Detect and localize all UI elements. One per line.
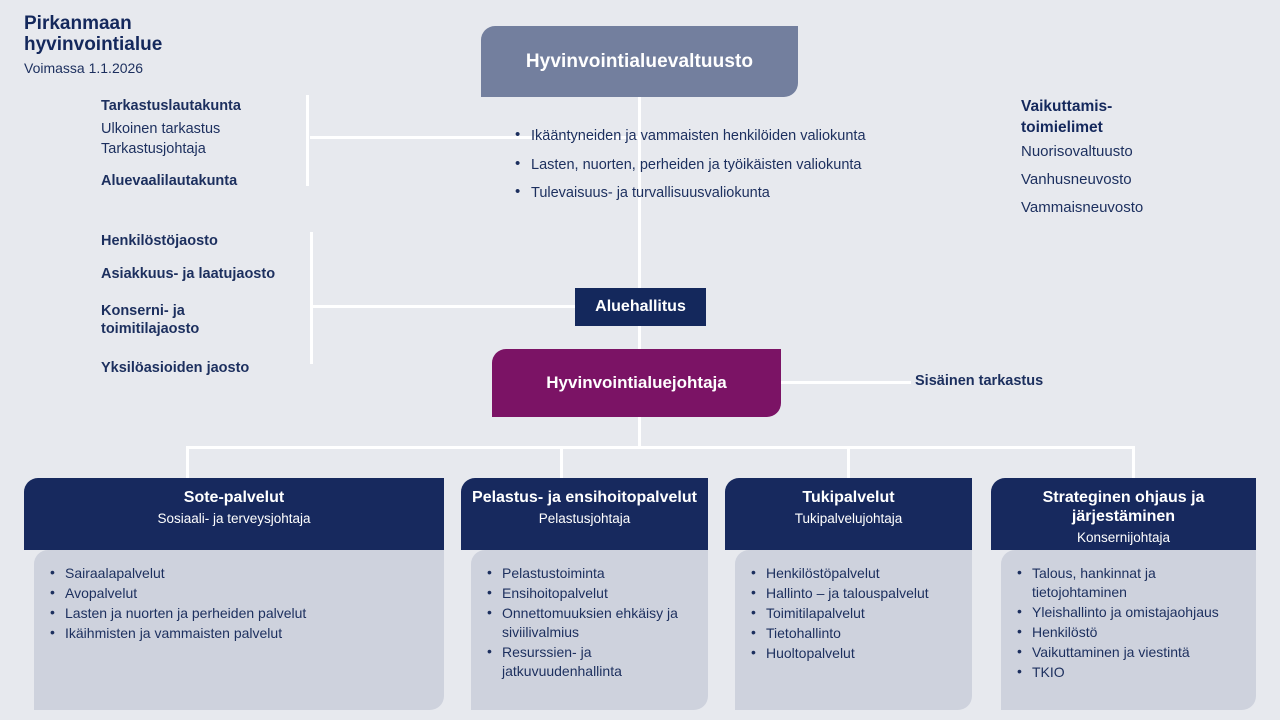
section-label: Konserni- ja toimitilajaosto <box>101 302 221 338</box>
influence-body-item: Nuorisovaltuusto <box>1021 138 1271 166</box>
unit-header: Sote-palvelut Sosiaali- ja terveysjohtaj… <box>24 478 444 550</box>
unit-card-tukipalvelut[interactable]: Tukipalvelut Tukipalvelujohtaja Henkilös… <box>725 478 972 710</box>
influence-body-item: Vanhusneuvosto <box>1021 166 1271 194</box>
section-item-1: Henkilöstöjaosto <box>101 232 316 250</box>
section-label: Yksilöasioiden jaosto <box>101 359 316 377</box>
list-item: Henkilöstöpalvelut <box>749 564 962 583</box>
connector-board-to-director <box>638 326 641 351</box>
audit-committee-group: Tarkastuslautakunta <box>101 97 301 115</box>
connector-drop-unit-4 <box>1132 446 1135 480</box>
list-item: TKIO <box>1015 663 1246 682</box>
unit-title: Strateginen ohjaus ja järjestäminen <box>1001 488 1246 526</box>
board-title: Aluehallitus <box>595 298 686 316</box>
list-item: Hallinto – ja talouspalvelut <box>749 584 962 603</box>
unit-subtitle: Tukipalvelujohtaja <box>735 509 962 528</box>
connector-bus <box>186 446 1135 449</box>
list-item: Tulevaisuus- ja turvallisuusvaliokunta <box>513 183 873 204</box>
election-committee-heading: Aluevaalilautakunta <box>101 172 311 190</box>
unit-header: Tukipalvelut Tukipalvelujohtaja <box>725 478 972 550</box>
list-item: Huoltopalvelut <box>749 644 962 663</box>
influence-bodies-heading-line1: Vaikuttamis- <box>1021 96 1271 117</box>
committees-list: Ikääntyneiden ja vammaisten henkilöiden … <box>513 126 873 212</box>
internal-audit-label: Sisäinen tarkastus <box>915 373 1043 389</box>
unit-header: Strateginen ohjaus ja järjestäminen Kons… <box>991 478 1256 550</box>
connector-sections-to-board <box>310 305 578 308</box>
list-item: Ensihoitopalvelut <box>485 584 698 603</box>
director-box[interactable]: Hyvinvointialuejohtaja <box>492 349 781 417</box>
list-item: Henkilöstö <box>1015 623 1246 642</box>
section-label: Asiakkuus- ja laatujaosto <box>101 265 316 283</box>
audit-committee-heading: Tarkastuslautakunta <box>101 97 301 115</box>
connector-director-to-bus <box>638 417 641 447</box>
unit-title: Sote-palvelut <box>34 488 434 507</box>
connector-drop-unit-1 <box>186 446 189 480</box>
section-item-2: Asiakkuus- ja laatujaosto <box>101 265 316 283</box>
unit-subtitle: Sosiaali- ja terveysjohtaja <box>34 509 434 528</box>
external-audit-label: Ulkoinen tarkastus Tarkastusjohtaja <box>101 119 301 159</box>
connector-drop-unit-2 <box>560 446 563 480</box>
list-item: Sairaalapalvelut <box>48 564 434 583</box>
section-item-3: Konserni- ja toimitilajaosto <box>101 302 221 338</box>
unit-title: Tukipalvelut <box>735 488 962 507</box>
influence-bodies-heading-line2: toimielimet <box>1021 117 1271 138</box>
list-item: Avopalvelut <box>48 584 434 603</box>
unit-body: Henkilöstöpalvelut Hallinto – ja talousp… <box>735 550 972 710</box>
council-title: Hyvinvointialuevaltuusto <box>526 51 753 73</box>
connector-sections-bracket <box>310 232 313 364</box>
board-box[interactable]: Aluehallitus <box>575 288 706 326</box>
unit-title: Pelastus- ja ensihoitopalvelut <box>471 488 698 507</box>
validity-date: Voimassa 1.1.2026 <box>24 60 284 77</box>
influence-bodies-group: Vaikuttamis- toimielimet Nuorisovaltuust… <box>1021 96 1271 222</box>
unit-body: Sairaalapalvelut Avopalvelut Lasten ja n… <box>34 550 444 710</box>
section-label: Henkilöstöjaosto <box>101 232 316 250</box>
unit-body: Talous, hankinnat ja tietojohtaminen Yle… <box>1001 550 1256 710</box>
election-committee-group: Aluevaalilautakunta <box>101 172 311 190</box>
unit-body: Pelastustoiminta Ensihoitopalvelut Onnet… <box>471 550 708 710</box>
unit-card-pelastus-ja-ensihoitopalvelut[interactable]: Pelastus- ja ensihoitopalvelut Pelastusj… <box>461 478 708 710</box>
audit-sub2: Tarkastusjohtaja <box>101 139 301 159</box>
brand-line2: hyvinvointialue <box>24 34 284 55</box>
list-item: Talous, hankinnat ja tietojohtaminen <box>1015 564 1246 602</box>
list-item: Onnettomuuksien ehkäisy ja siviilivalmiu… <box>485 604 698 642</box>
list-item: Lasten, nuorten, perheiden ja työikäiste… <box>513 155 873 176</box>
unit-card-strateginen-ohjaus-ja-jarjestaminen[interactable]: Strateginen ohjaus ja järjestäminen Kons… <box>991 478 1256 710</box>
unit-card-sote-palvelut[interactable]: Sote-palvelut Sosiaali- ja terveysjohtaj… <box>24 478 444 710</box>
brand-block: Pirkanmaan hyvinvointialue Voimassa 1.1.… <box>24 13 284 77</box>
audit-sub1: Ulkoinen tarkastus <box>101 119 301 139</box>
list-item: Ikääntyneiden ja vammaisten henkilöiden … <box>513 126 873 147</box>
director-title: Hyvinvointialuejohtaja <box>546 373 726 393</box>
unit-header: Pelastus- ja ensihoitopalvelut Pelastusj… <box>461 478 708 550</box>
unit-subtitle: Konsernijohtaja <box>1001 528 1246 547</box>
list-item: Resurssien- ja jatkuvuudenhallinta <box>485 643 698 681</box>
connector-director-to-internal-audit <box>781 381 911 384</box>
list-item: Vaikuttaminen ja viestintä <box>1015 643 1246 662</box>
council-box[interactable]: Hyvinvointialuevaltuusto <box>481 26 798 97</box>
list-item: Toimitilapalvelut <box>749 604 962 623</box>
connector-drop-unit-3 <box>847 446 850 480</box>
brand-line1: Pirkanmaan <box>24 13 284 34</box>
list-item: Tietohallinto <box>749 624 962 643</box>
list-item: Yleishallinto ja omistajaohjaus <box>1015 603 1246 622</box>
list-item: Lasten ja nuorten ja perheiden palvelut <box>48 604 434 623</box>
influence-body-item: Vammaisneuvosto <box>1021 194 1271 222</box>
unit-subtitle: Pelastusjohtaja <box>471 509 698 528</box>
section-item-4: Yksilöasioiden jaosto <box>101 359 316 377</box>
list-item: Ikäihmisten ja vammaisten palvelut <box>48 624 434 643</box>
org-chart-canvas: Pirkanmaan hyvinvointialue Voimassa 1.1.… <box>0 0 1280 720</box>
list-item: Pelastustoiminta <box>485 564 698 583</box>
